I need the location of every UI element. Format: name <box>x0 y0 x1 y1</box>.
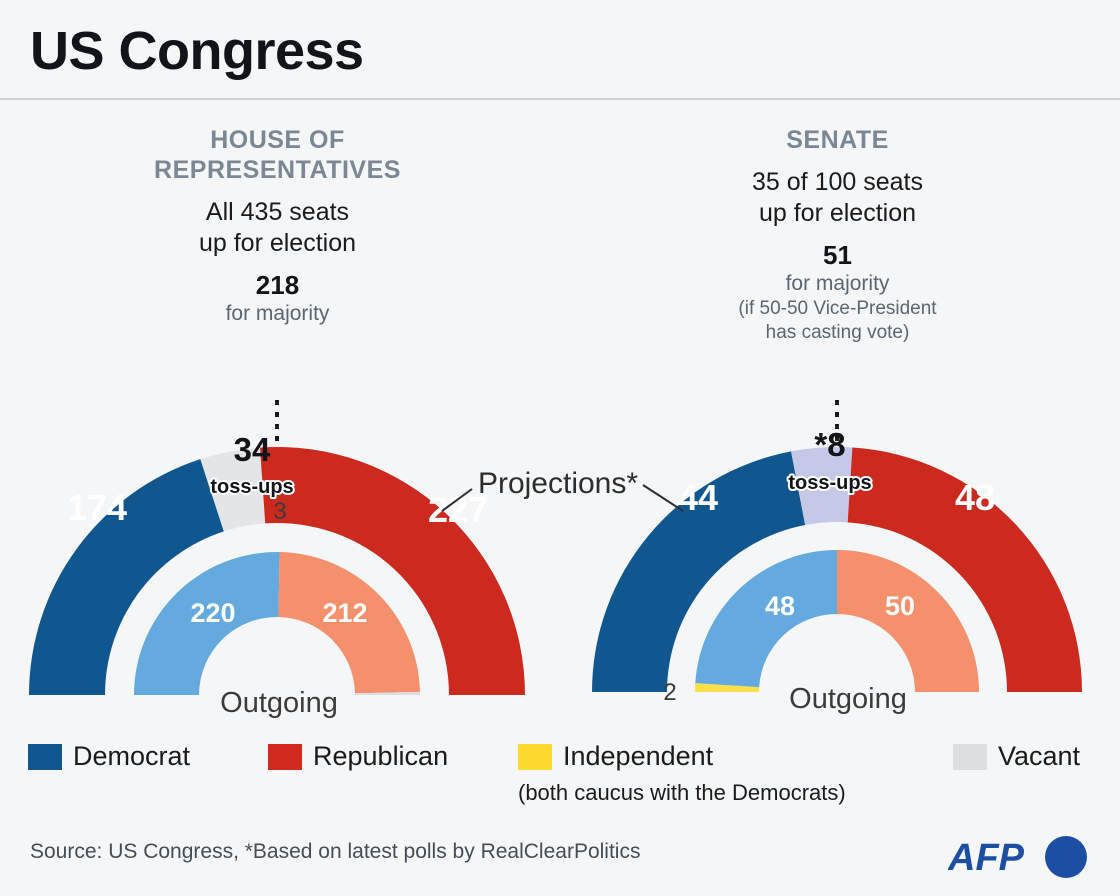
house-chamber-name-line1: HOUSE OF <box>95 125 460 155</box>
senate-seats-line2: up for election <box>655 198 1020 229</box>
house-vacant-value: 3 <box>273 498 286 525</box>
senate-seats-text: 35 of 100 seats up for election <box>655 167 1020 230</box>
page-title: US Congress <box>30 20 364 82</box>
independent-color-swatch <box>518 744 552 770</box>
house-seats-line2: up for election <box>95 228 460 259</box>
projections-leader-line-right <box>643 485 683 511</box>
senate-projected-rep-value: 48 <box>955 477 995 518</box>
house-outgoing-dem-value: 220 <box>190 598 235 628</box>
legend-item-democrat: Democrat <box>28 741 190 772</box>
vacant-color-swatch <box>953 744 987 770</box>
house-chamber-name: HOUSE OF REPRESENTATIVES <box>95 125 460 185</box>
house-chamber-name-line2: REPRESENTATIVES <box>95 155 460 185</box>
senate-tossups-label: toss-ups <box>788 472 871 494</box>
democrat-color-swatch <box>28 744 62 770</box>
senate-majority-number: 51 <box>655 240 1020 271</box>
house-tossups-label: toss-ups <box>210 476 293 498</box>
afp-logo-circle <box>1045 836 1087 878</box>
house-seats-line1: All 435 seats <box>95 197 460 228</box>
projections-label: Projections* <box>478 467 638 500</box>
afp-logo: AFP <box>948 834 1098 880</box>
house-tossups-value: 34 <box>234 431 271 468</box>
senate-majority-note-line1: (if 50-50 Vice-President <box>655 297 1020 321</box>
afp-logo-text: AFP <box>948 837 1025 879</box>
senate-heading-block: SENATE 35 of 100 seats up for election 5… <box>655 125 1020 344</box>
footer: Source: US Congress, *Based on latest po… <box>0 822 1120 896</box>
senate-inner-ring <box>695 550 979 692</box>
header: US Congress <box>0 0 1120 100</box>
legend: Democrat Republican Independent (both ca… <box>28 735 1092 815</box>
house-inner-ring <box>134 552 420 695</box>
house-majority-label: for majority <box>95 301 460 327</box>
senate-independent-value: 2 <box>663 679 676 706</box>
senate-outgoing-dem-value: 48 <box>765 591 795 621</box>
legend-item-independent: Independent <box>518 741 713 772</box>
projections-leader-line-left <box>442 489 472 511</box>
legend-label-vacant: Vacant <box>998 741 1080 772</box>
house-projected-dem-value: 174 <box>67 487 127 528</box>
legend-label-republican: Republican <box>313 741 448 772</box>
house-outgoing-rep-value: 212 <box>322 598 367 628</box>
legend-label-democrat: Democrat <box>73 741 190 772</box>
senate-outgoing-label: Outgoing <box>789 683 907 715</box>
senate-majority-note-line2: has casting vote) <box>655 321 1020 345</box>
house-heading-block: HOUSE OF REPRESENTATIVES All 435 seats u… <box>95 125 460 327</box>
senate-semicircle-chart: 44 48 *8 toss-ups 48 50 2 Outgoing <box>590 400 1110 730</box>
republican-color-swatch <box>268 744 302 770</box>
legend-item-vacant: Vacant <box>953 741 1080 772</box>
legend-label-independent: Independent <box>563 741 713 772</box>
senate-seats-line1: 35 of 100 seats <box>655 167 1020 198</box>
house-seats-text: All 435 seats up for election <box>95 197 460 260</box>
house-outgoing-label: Outgoing <box>220 687 338 719</box>
projections-annotation: Projections* <box>440 455 690 525</box>
house-majority-number: 218 <box>95 270 460 301</box>
legend-item-republican: Republican <box>268 741 448 772</box>
legend-independent-subtext: (both caucus with the Democrats) <box>518 780 846 806</box>
infographic-page: US Congress HOUSE OF REPRESENTATIVES All… <box>0 0 1120 896</box>
senate-majority-label: for majority <box>655 271 1020 297</box>
senate-outgoing-rep-value: 50 <box>885 591 915 621</box>
senate-chamber-name: SENATE <box>655 125 1020 155</box>
senate-tossups-value: *8 <box>814 426 845 463</box>
source-text: Source: US Congress, *Based on latest po… <box>30 840 640 864</box>
house-semicircle-chart: 174 227 34 toss-ups 3 220 212 Outgoing <box>15 400 545 730</box>
